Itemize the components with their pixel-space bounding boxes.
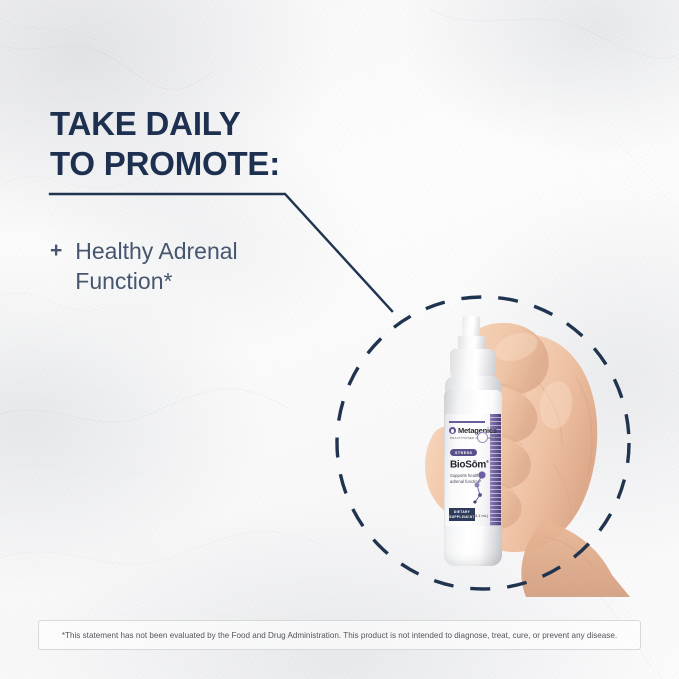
metagenics-logo-icon [449,427,456,434]
brand-lockup: Metagenics [449,426,497,435]
product-photo: Metagenics PRACTITIONER RECOMMENDED STRE… [330,285,642,597]
disclaimer-text: *This statement has not been evaluated b… [62,631,617,640]
spray-bottle: Metagenics PRACTITIONER RECOMMENDED STRE… [438,316,510,566]
category-pill: STRESS [450,449,477,456]
disclaimer-box: *This statement has not been evaluated b… [38,620,641,650]
bottle-nozzle-tip [462,316,480,338]
certification-seal-icon [477,432,488,443]
bottle-pump-head [450,349,495,379]
benefit-bullet-icon: + [50,237,62,265]
brand-tagline: PRACTITIONER RECOMMENDED [450,436,501,440]
net-volume: 2 fl oz (59.1 mL) [461,514,488,519]
trademark-symbol: ® [486,459,489,464]
product-label: Metagenics PRACTITIONER RECOMMENDED STRE… [445,414,501,526]
benefit-label: Healthy Adrenal Function* [75,236,320,297]
benefit-item: + Healthy Adrenal Function* [50,236,320,297]
product-infographic-poster: TAKE DAILY TO PROMOTE: + Healthy Adrenal… [0,0,679,679]
molecule-graphic-icon [469,468,489,508]
page-title: TAKE DAILY TO PROMOTE: [50,104,280,184]
label-top-rule [449,421,485,423]
